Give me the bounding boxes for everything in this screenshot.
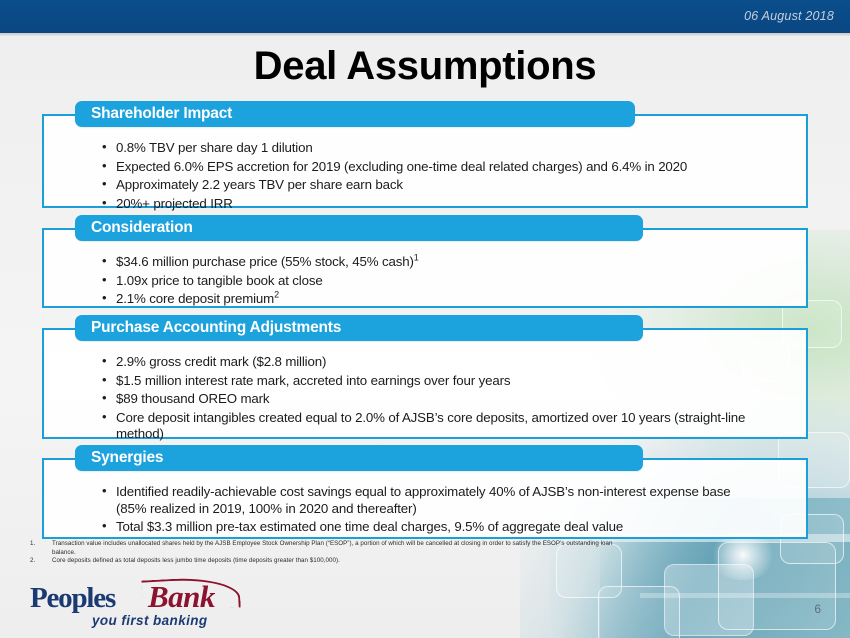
logo-word-peoples: Peoples <box>30 582 115 615</box>
page-number: 6 <box>814 602 821 616</box>
footnote-item: 2. Core deposits defined as total deposi… <box>30 557 630 566</box>
list-item: Approximately 2.2 years TBV per share ea… <box>102 177 788 194</box>
logo-word-bank: Bank <box>148 579 215 615</box>
background-stripe-2 <box>640 593 850 598</box>
list-item: Expected 6.0% EPS accretion for 2019 (ex… <box>102 159 788 176</box>
list-item: 2.1% core deposit premium2 <box>102 291 788 308</box>
bullet-list-consideration: $34.6 million purchase price (55% stock,… <box>102 254 788 308</box>
list-item: $34.6 million purchase price (55% stock,… <box>102 254 788 271</box>
bullet-list-purchase-accounting-adjustments: 2.9% gross credit mark ($2.8 million) $1… <box>102 354 766 443</box>
section-body-shareholder-impact: 0.8% TBV per share day 1 dilution Expect… <box>42 114 808 208</box>
list-item: 20%+ projected IRR <box>102 196 788 213</box>
slide-root: 06 August 2018 Deal Assumptions 0.8% TBV… <box>0 0 850 638</box>
list-item: $89 thousand OREO mark <box>102 391 766 408</box>
section-header-shareholder-impact: Shareholder Impact <box>75 101 635 127</box>
list-item: 2.9% gross credit mark ($2.8 million) <box>102 354 766 371</box>
section-header-synergies: Synergies <box>75 445 643 471</box>
footnote-text: Core deposits defined as total deposits … <box>52 557 630 566</box>
list-item: Core deposit intangibles created equal t… <box>102 410 766 443</box>
section-body-purchase-accounting-adjustments: 2.9% gross credit mark ($2.8 million) $1… <box>42 328 808 439</box>
footnote-text: Transaction value includes unallocated s… <box>52 540 630 557</box>
peoples-bank-logo: Peoples Bank you first banking <box>30 580 270 632</box>
bullet-list-synergies: Identified readily-achievable cost savin… <box>102 484 748 536</box>
section-header-consideration: Consideration <box>75 215 643 241</box>
bullet-list-shareholder-impact: 0.8% TBV per share day 1 dilution Expect… <box>102 140 788 212</box>
footnote-item: 1. Transaction value includes unallocate… <box>30 540 630 557</box>
footnote-ref-1: 1 <box>414 253 419 263</box>
list-item: Identified readily-achievable cost savin… <box>102 484 748 517</box>
logo-tagline: you first banking <box>92 613 208 628</box>
footnotes: 1. Transaction value includes unallocate… <box>30 540 630 566</box>
footnote-number: 2. <box>30 557 52 566</box>
top-header-bar <box>0 0 850 33</box>
header-divider-rule <box>0 33 850 36</box>
footnote-number: 1. <box>30 540 52 557</box>
list-item: 0.8% TBV per share day 1 dilution <box>102 140 788 157</box>
list-item: $1.5 million interest rate mark, accrete… <box>102 373 766 390</box>
list-item: 1.09x price to tangible book at close <box>102 273 788 290</box>
section-header-purchase-accounting-adjustments: Purchase Accounting Adjustments <box>75 315 643 341</box>
header-date: 06 August 2018 <box>744 9 834 23</box>
list-item: Total $3.3 million pre-tax estimated one… <box>102 519 748 536</box>
page-title: Deal Assumptions <box>0 44 850 89</box>
footnote-ref-2: 2 <box>274 290 279 300</box>
